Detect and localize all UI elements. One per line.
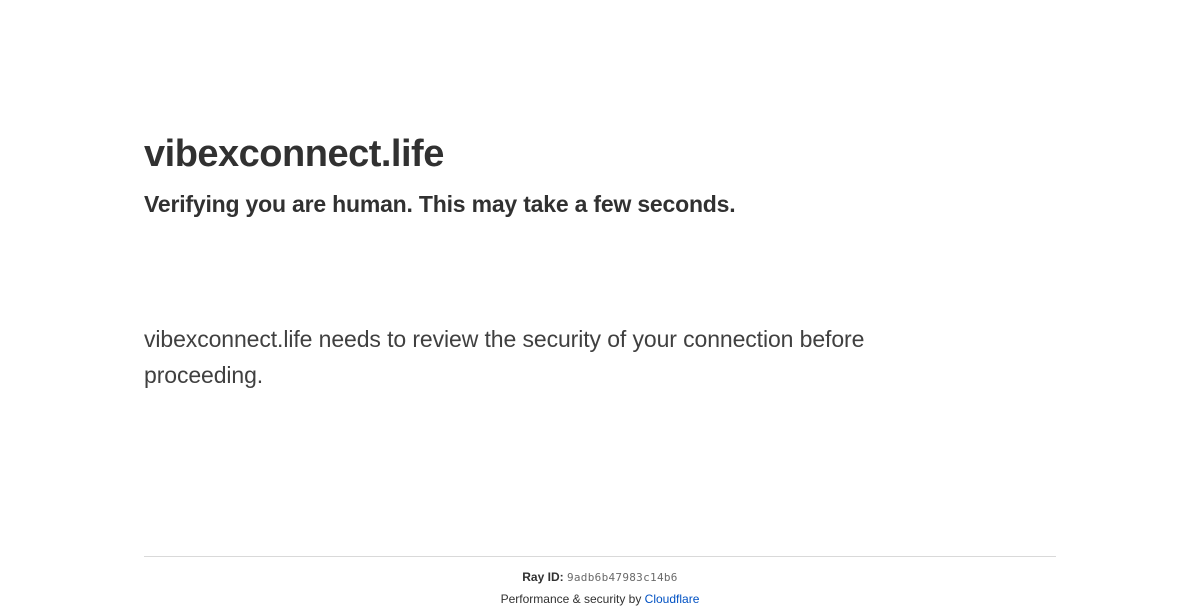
page-title: vibexconnect.life bbox=[144, 0, 1056, 177]
turnstile-challenge-widget[interactable] bbox=[144, 243, 464, 321]
challenge-content: vibexconnect.life Verifying you are huma… bbox=[144, 0, 1056, 393]
page-footer: Ray ID: 9adb6b47983c14b6 Performance & s… bbox=[144, 557, 1056, 606]
cloudflare-link[interactable]: Cloudflare bbox=[645, 592, 700, 606]
verification-status-text: Verifying you are human. This may take a… bbox=[144, 177, 1056, 219]
ray-id-value: 9adb6b47983c14b6 bbox=[567, 571, 678, 584]
performance-security-row: Performance & security by Cloudflare bbox=[144, 585, 1056, 606]
ray-id-row: Ray ID: 9adb6b47983c14b6 bbox=[144, 557, 1056, 585]
challenge-page: vibexconnect.life Verifying you are huma… bbox=[0, 0, 1200, 600]
performance-security-prefix: Performance & security by bbox=[501, 592, 645, 606]
challenge-description: vibexconnect.life needs to review the se… bbox=[144, 321, 944, 393]
ray-id-label: Ray ID: bbox=[522, 570, 563, 584]
